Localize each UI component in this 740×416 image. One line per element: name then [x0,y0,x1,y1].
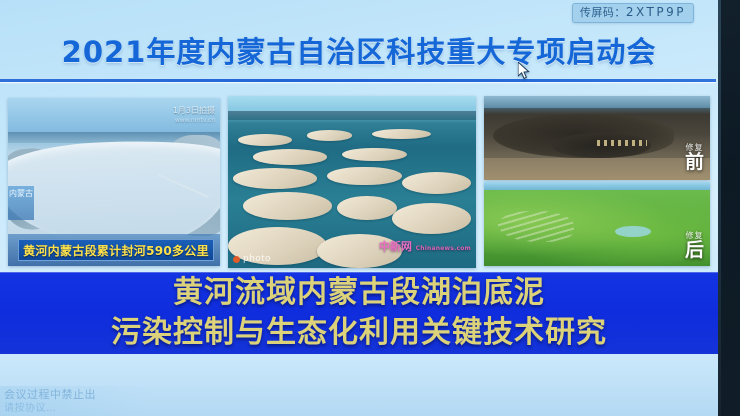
screen-cast-code-badge: 传屏码：2XTP9P [572,3,694,23]
date-watermark-sub: www.nmtv.cn [175,117,215,124]
photo-agency-mark: photo [233,254,271,264]
chinanews-watermark-url: Chinanews.com [416,245,471,252]
projected-slide-screenshot: 传屏码：2XTP9P 2021年度内蒙古自治区科技重大专项启动会 1月3日拍摄 … [0,0,740,416]
before-label-small: 修复 [685,144,704,152]
photo-agency-label: photo [243,254,271,264]
footer-watermark-line-2: 请按协议… [4,402,146,416]
sand-bar [402,172,471,194]
before-label: 修复 前 [685,144,704,172]
header-divider-highlight [0,82,716,83]
mouse-cursor-icon [518,62,530,80]
sand-bar [392,203,471,234]
photo-strip: 1月3日拍摄 www.nmtv.cn 内蒙古 黄河内蒙古段累计封河590多公里 [0,90,718,268]
footer-watermark: 会议过程中禁止出 请按协议… [0,386,150,416]
sand-bar [372,129,432,139]
project-title-band: 黄河流域内蒙古段湖泊底泥 污染控制与生态化利用关键技术研究 [0,272,718,354]
sand-bar [243,192,332,220]
before-label-big: 前 [685,153,704,172]
sky-region [484,96,710,108]
project-title-line-1: 黄河流域内蒙古段湖泊底泥 [173,273,545,313]
photo-agency-dot-icon [233,256,240,263]
screen-cast-code-label: 传屏码： [580,6,626,19]
page-title: 2021年度内蒙古自治区科技重大专项启动会 [62,29,657,71]
date-watermark-text: 1月3日拍摄 [173,106,215,115]
date-watermark: 1月3日拍摄 www.nmtv.cn [173,106,215,125]
offscreen-dark-edge [718,0,740,416]
mining-trucks [597,140,647,146]
open-pit-core [552,133,651,158]
sand-bar [327,167,401,186]
sand-bar [337,196,397,220]
bare-ground [484,158,710,180]
photo-mine-after: 修复 后 [484,182,710,266]
project-title-line-2: 污染控制与生态化利用关键技术研究 [111,313,607,353]
sand-bar [307,130,352,140]
after-label: 修复 后 [685,232,704,260]
after-label-small: 修复 [685,232,704,240]
news-caption: 黄河内蒙古段累计封河590多公里 [18,239,214,261]
slide-header: 2021年度内蒙古自治区科技重大专项启动会 [0,22,718,77]
photo-aerial-desert-lakes: photo 中新网 Chinanews.com [228,96,476,268]
channel-logo: 内蒙古 [8,186,34,220]
sand-bar [233,168,317,189]
footer-watermark-line-1: 会议过程中禁止出 [4,388,146,402]
photo-frozen-river: 1月3日拍摄 www.nmtv.cn 内蒙古 黄河内蒙古段累计封河590多公里 [8,98,220,266]
photo-mine-before: 修复 前 [484,96,710,180]
chinanews-watermark: 中新网 Chinanews.com [379,241,471,255]
presentation-slide: 传屏码：2XTP9P 2021年度内蒙古自治区科技重大专项启动会 1月3日拍摄 … [0,0,718,416]
chinanews-watermark-cn: 中新网 [379,240,412,253]
sand-bar [342,148,406,162]
screen-cast-code-value: 2XTP9P [626,5,686,19]
sand-bar [253,149,327,164]
after-label-big: 后 [685,241,704,260]
distant-hills [228,111,476,120]
sand-bar [238,134,293,146]
